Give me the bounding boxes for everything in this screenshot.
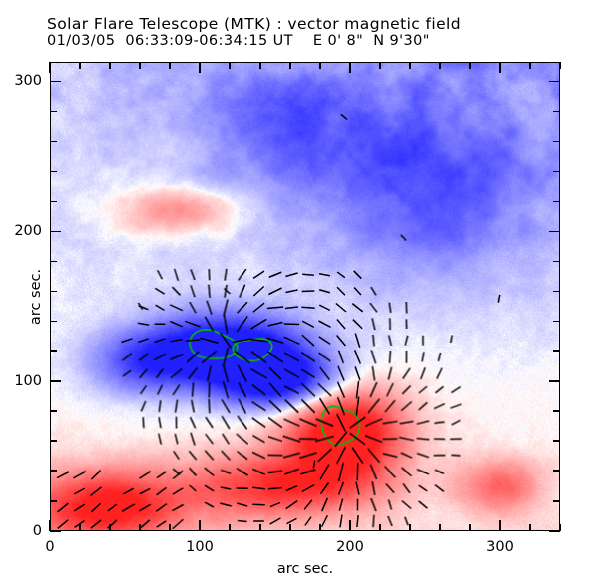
y-tick-label: 100 [8,373,42,389]
y-tick-right [553,261,560,262]
y-tick [50,500,57,501]
y-tick [50,171,57,172]
x-tick-top [529,62,530,69]
y-tick-label: 300 [8,73,42,89]
x-tick [319,524,320,531]
x-tick-label: 200 [336,539,364,555]
y-tick-right [553,321,560,322]
x-tick [529,524,530,531]
y-tick-right [553,291,560,292]
x-tick-top [79,62,80,69]
y-tick [50,81,61,82]
figure-subtitle: 01/03/05 06:33:09-06:34:15 UT E 0' 8" N … [47,33,430,49]
plot-area [50,62,560,531]
x-tick [409,524,410,531]
x-tick [469,524,470,531]
magnetogram-figure: Solar Flare Telescope (MTK) : vector mag… [0,0,612,585]
x-tick-top [49,62,50,73]
y-tick-right [553,350,560,351]
x-tick [139,524,140,531]
y-tick [50,410,57,411]
x-tick [169,524,170,531]
y-tick [50,350,57,351]
y-tick [50,141,57,142]
y-tick [50,261,57,262]
figure-title: Solar Flare Telescope (MTK) : vector mag… [47,15,461,33]
x-tick [499,520,500,531]
x-tick [289,524,290,531]
magnetogram-image [51,63,559,530]
y-tick-label: 0 [8,523,42,539]
x-tick [349,520,350,531]
y-tick-right [553,111,560,112]
x-tick [109,524,110,531]
x-tick [199,520,200,531]
x-tick [379,524,380,531]
x-tick-top [349,62,350,73]
x-tick-top [229,62,230,69]
y-tick-right [549,380,560,381]
y-tick-right [553,201,560,202]
x-tick-label: 300 [486,539,514,555]
y-tick [50,530,61,531]
x-tick-label: 100 [186,539,214,555]
y-tick-right [549,81,560,82]
y-tick [50,231,61,232]
x-tick [439,524,440,531]
x-tick-top [289,62,290,69]
y-tick [50,440,57,441]
x-axis-title: arc sec. [277,561,333,577]
x-tick [229,524,230,531]
x-tick-top [199,62,200,73]
y-tick-right [549,231,560,232]
x-tick-top [139,62,140,69]
x-tick-top [109,62,110,69]
x-tick-top [259,62,260,69]
y-tick [50,321,57,322]
x-tick [259,524,260,531]
y-axis-title: arc sec. [28,269,44,325]
y-tick [50,470,57,471]
x-tick-top [499,62,500,73]
x-tick-top [409,62,410,69]
y-tick-right [553,410,560,411]
y-tick [50,380,61,381]
y-tick [50,291,57,292]
y-tick-right [553,171,560,172]
y-tick-right [553,440,560,441]
x-tick-top [439,62,440,69]
y-tick-label: 200 [8,223,42,239]
x-tick-top [379,62,380,69]
y-tick [50,201,57,202]
y-tick-right [553,141,560,142]
y-tick-right [553,470,560,471]
x-tick-label: 0 [45,539,54,555]
x-tick-top [319,62,320,69]
x-tick-top [169,62,170,69]
x-tick [79,524,80,531]
y-tick-right [549,530,560,531]
y-tick-right [553,500,560,501]
y-tick [50,111,57,112]
x-tick-top [559,62,560,69]
x-tick-top [469,62,470,69]
